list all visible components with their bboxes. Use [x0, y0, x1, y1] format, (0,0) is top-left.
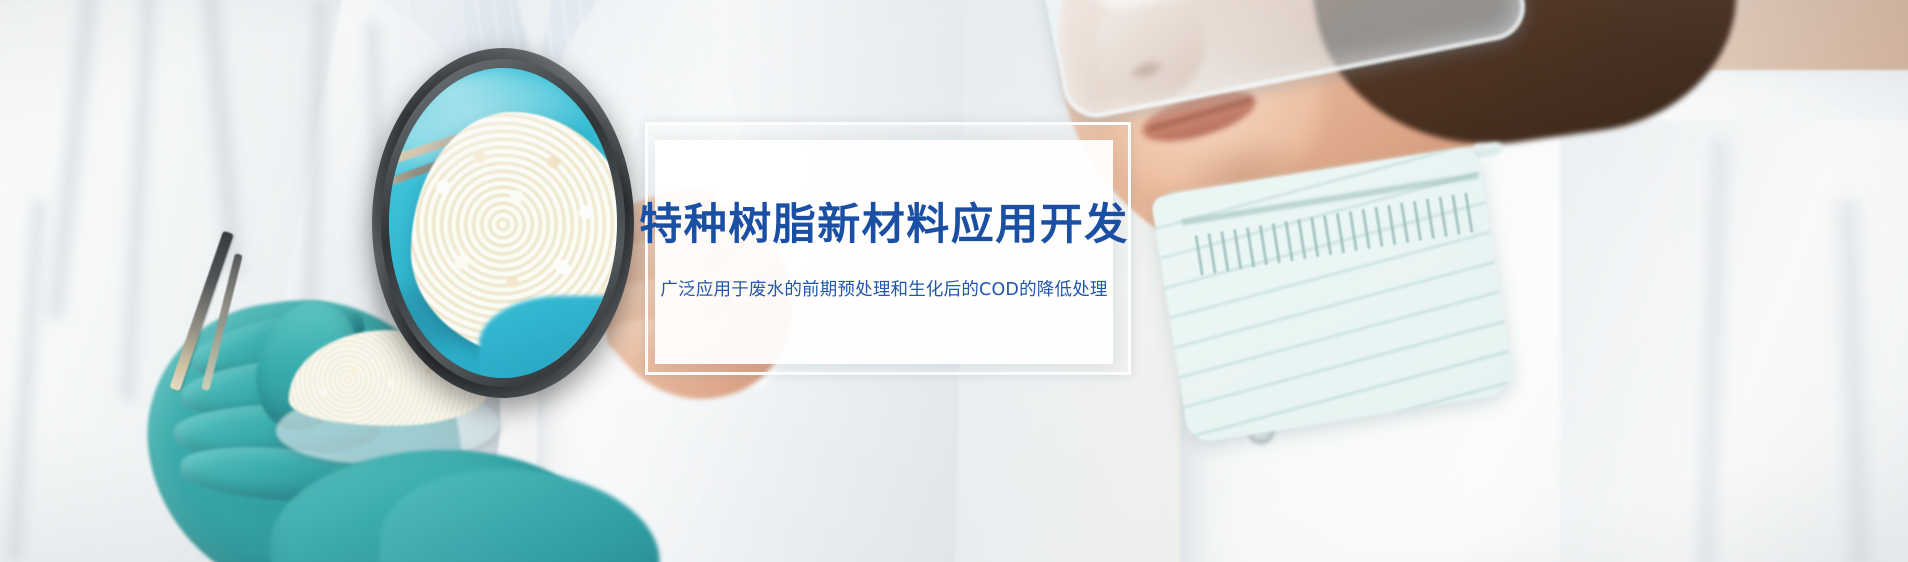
magnifier-lens — [389, 68, 617, 378]
banner-subtitle: 广泛应用于废水的前期预处理和生化后的COD的降低处理 — [660, 279, 1107, 302]
banner-title: 特种树脂新材料应用开发 — [639, 202, 1129, 249]
magnifying-glass — [372, 48, 634, 398]
banner-text-panel: 特种树脂新材料应用开发 广泛应用于废水的前期预处理和生化后的COD的降低处理 — [655, 140, 1113, 364]
magnifier-lens-glare — [399, 72, 589, 192]
promo-banner: 特种树脂新材料应用开发 广泛应用于废水的前期预处理和生化后的COD的降低处理 — [0, 0, 1908, 562]
surgical-mask — [1150, 146, 1515, 445]
